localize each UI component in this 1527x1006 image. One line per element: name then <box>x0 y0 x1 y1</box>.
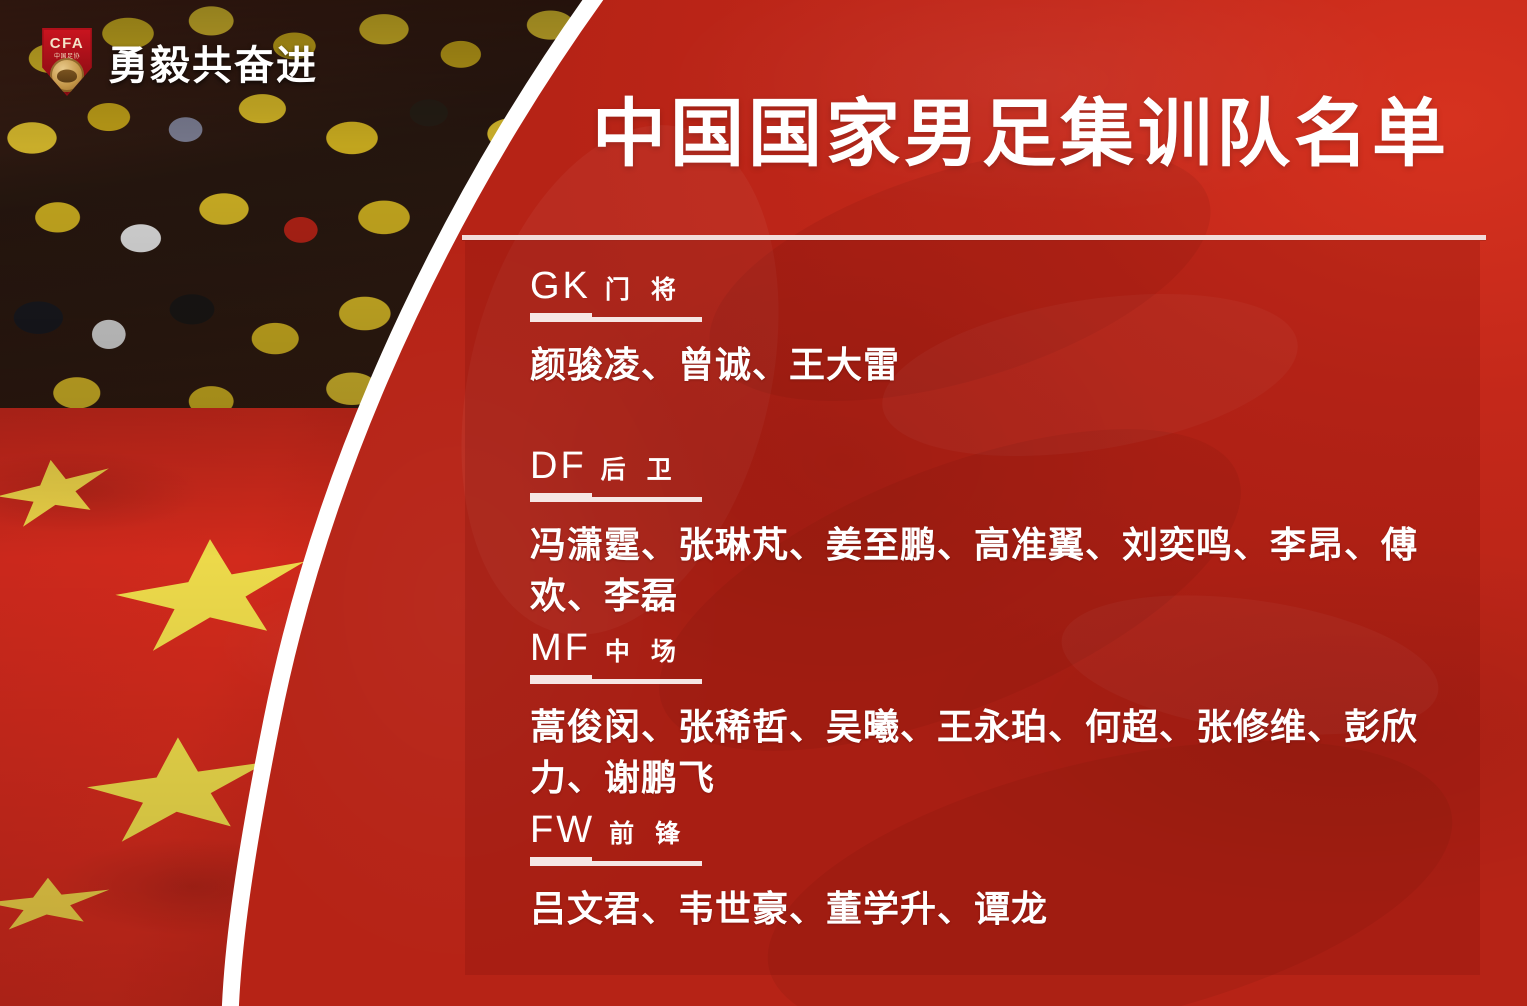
roster-section-gk: GK门 将 颜骏凌、曾诚、王大雷 <box>465 265 1480 390</box>
section-player-names: 蒿俊闵、张稀哲、吴曦、王永珀、何超、张修维、彭欣力、谢鹏飞 <box>465 701 1480 803</box>
section-label-cn: 后 卫 <box>601 450 679 486</box>
section-header: MF中 场 <box>465 627 1480 679</box>
section-underline-thin <box>592 861 702 866</box>
section-abbr: DF <box>530 445 587 488</box>
section-underline-thin <box>592 317 702 322</box>
section-abbr: GK <box>530 265 591 308</box>
brand-slogan: 勇毅共奋进 <box>108 33 318 91</box>
section-underline-thin <box>592 497 702 502</box>
roster-sections: GK门 将 颜骏凌、曾诚、王大雷 DF后 卫 冯潇霆、张琳芃、姜至鹏、高准翼、刘… <box>465 241 1480 975</box>
section-underline-thin <box>592 679 702 684</box>
roster-section-fw: FW前 锋 吕文君、韦世豪、董学升、谭龙 <box>465 809 1480 934</box>
page-title: 中国国家男足集训队名单 <box>592 74 1450 181</box>
title-divider <box>462 235 1486 240</box>
section-label-cn: 前 锋 <box>609 814 687 850</box>
section-player-names: 冯潇霆、张琳芃、姜至鹏、高准翼、刘奕鸣、李昂、傅欢、李磊 <box>465 519 1480 621</box>
section-underline-thick <box>530 857 592 866</box>
section-header: DF后 卫 <box>465 445 1480 497</box>
poster-root: CFA 中国足协 勇毅共奋进 中国国家男足集训队名单 GK门 将 颜骏凌、曾诚、… <box>0 0 1527 1006</box>
cfa-logo-icon: CFA 中国足协 <box>40 28 94 96</box>
section-player-names: 颜骏凌、曾诚、王大雷 <box>465 339 1480 390</box>
section-header: FW前 锋 <box>465 809 1480 861</box>
section-player-names: 吕文君、韦世豪、董学升、谭龙 <box>465 883 1480 934</box>
section-abbr: FW <box>530 809 595 852</box>
cfa-logo-abbr: CFA <box>40 35 94 52</box>
section-label-cn: 中 场 <box>605 632 683 668</box>
section-underline-thick <box>530 675 592 684</box>
section-abbr: MF <box>530 627 591 670</box>
roster-section-df: DF后 卫 冯潇霆、张琳芃、姜至鹏、高准翼、刘奕鸣、李昂、傅欢、李磊 <box>465 445 1480 621</box>
brand-block: CFA 中国足协 勇毅共奋进 <box>40 28 318 96</box>
section-underline-thick <box>530 493 592 502</box>
cfa-logo-emblem <box>50 58 84 92</box>
section-label-cn: 门 将 <box>605 270 683 306</box>
section-header: GK门 将 <box>465 265 1480 317</box>
section-underline-thick <box>530 313 592 322</box>
roster-section-mf: MF中 场 蒿俊闵、张稀哲、吴曦、王永珀、何超、张修维、彭欣力、谢鹏飞 <box>465 627 1480 803</box>
